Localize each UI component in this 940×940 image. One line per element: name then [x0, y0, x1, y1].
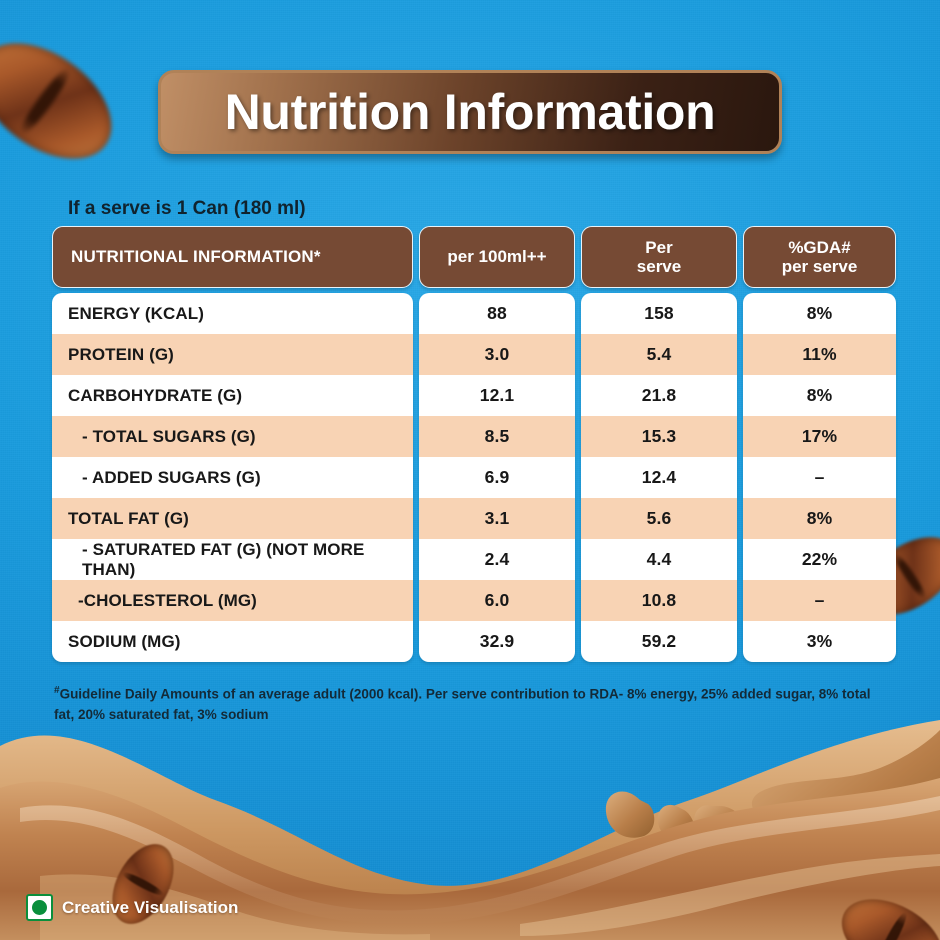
table-column-gda: 8%11%8%17%–8%22%–3%: [743, 293, 896, 662]
cell-label: - ADDED SUGARS (G): [52, 457, 413, 498]
cell-gda: 8%: [743, 375, 896, 416]
cell-per-100ml: 32.9: [419, 621, 575, 662]
cell-per-100ml: 88: [419, 293, 575, 334]
cell-gda: 8%: [743, 293, 896, 334]
cell-per-serve: 5.6: [581, 498, 737, 539]
column-header-gda-per-serve: %GDA# per serve: [743, 226, 896, 288]
table-column-labels: ENERGY (KCAL)PROTEIN (G)CARBOHYDRATE (G)…: [52, 293, 413, 662]
cell-per-serve: 4.4: [581, 539, 737, 580]
cell-label: ENERGY (KCAL): [52, 293, 413, 334]
column-header-nutritional-information: NUTRITIONAL INFORMATION*: [52, 226, 413, 288]
column-header-per-serve-line2: serve: [637, 257, 681, 276]
footnote: #Guideline Daily Amounts of an average a…: [54, 683, 884, 726]
table-column-per-serve: 1585.421.815.312.45.64.410.859.2: [581, 293, 737, 662]
cell-per-100ml: 6.0: [419, 580, 575, 621]
cell-label: CARBOHYDRATE (G): [52, 375, 413, 416]
column-header-gda-line1: %GDA#: [782, 238, 858, 257]
cell-label: - TOTAL SUGARS (G): [52, 416, 413, 457]
page-title: Nutrition Information: [225, 83, 716, 141]
cell-per-serve: 59.2: [581, 621, 737, 662]
page-title-banner: Nutrition Information: [158, 70, 782, 154]
cell-per-serve: 5.4: [581, 334, 737, 375]
creative-visualisation-row: Creative Visualisation: [26, 894, 238, 921]
cell-per-serve: 12.4: [581, 457, 737, 498]
table-column-per-100ml: 883.012.18.56.93.12.46.032.9: [419, 293, 575, 662]
cell-gda: 3%: [743, 621, 896, 662]
cell-label: PROTEIN (G): [52, 334, 413, 375]
table-header-row: NUTRITIONAL INFORMATION* per 100ml++ Per…: [52, 226, 890, 288]
cell-gda: 22%: [743, 539, 896, 580]
cell-per-serve: 21.8: [581, 375, 737, 416]
cell-per-serve: 158: [581, 293, 737, 334]
cell-per-100ml: 3.0: [419, 334, 575, 375]
cell-label: - SATURATED FAT (G) (NOT MORE THAN): [52, 539, 413, 580]
column-header-per-serve: Per serve: [581, 226, 737, 288]
cell-gda: 8%: [743, 498, 896, 539]
vegetarian-mark-icon: [26, 894, 53, 921]
table-body: ENERGY (KCAL)PROTEIN (G)CARBOHYDRATE (G)…: [52, 293, 890, 662]
cell-per-100ml: 2.4: [419, 539, 575, 580]
footnote-text: Guideline Daily Amounts of an average ad…: [54, 687, 871, 723]
cell-gda: –: [743, 457, 896, 498]
cell-per-100ml: 8.5: [419, 416, 575, 457]
cell-per-100ml: 3.1: [419, 498, 575, 539]
column-header-gda-line2: per serve: [782, 257, 858, 276]
serve-size-note: If a serve is 1 Can (180 ml): [68, 198, 306, 220]
cell-per-100ml: 12.1: [419, 375, 575, 416]
column-header-per-serve-line1: Per: [637, 238, 681, 257]
column-header-per-100ml: per 100ml++: [419, 226, 575, 288]
cell-label: TOTAL FAT (G): [52, 498, 413, 539]
cell-gda: –: [743, 580, 896, 621]
cell-per-serve: 15.3: [581, 416, 737, 457]
vegetarian-dot-icon: [32, 900, 47, 915]
cell-per-serve: 10.8: [581, 580, 737, 621]
cell-gda: 11%: [743, 334, 896, 375]
nutrition-table: NUTRITIONAL INFORMATION* per 100ml++ Per…: [52, 226, 890, 662]
cell-gda: 17%: [743, 416, 896, 457]
cell-per-100ml: 6.9: [419, 457, 575, 498]
cell-label: SODIUM (MG): [52, 621, 413, 662]
creative-visualisation-label: Creative Visualisation: [62, 898, 238, 918]
cell-label: -CHOLESTEROL (MG): [52, 580, 413, 621]
